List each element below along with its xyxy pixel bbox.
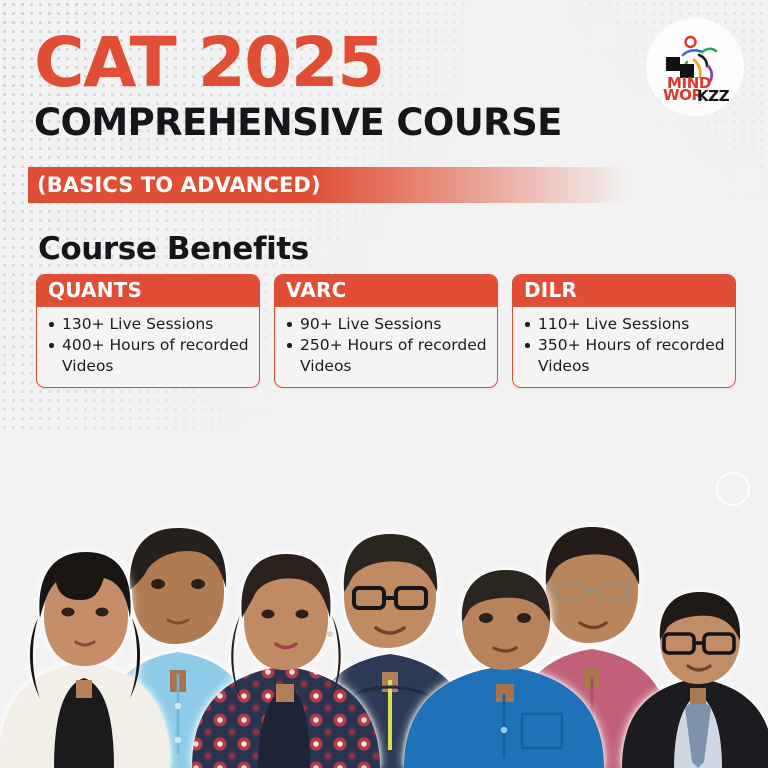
faculty-woman-printed-saree [184, 468, 394, 768]
page-title: CAT 2025 [34, 30, 562, 96]
benefit-cards: QUANTS 130+ Live Sessions 400+ Hours of … [36, 274, 736, 388]
benefit-card-body: 130+ Live Sessions 400+ Hours of recorde… [37, 307, 259, 387]
benefit-card-body: 90+ Live Sessions 250+ Hours of recorded… [275, 307, 497, 387]
benefit-card-title: QUANTS [48, 278, 142, 302]
headline-block: CAT 2025 COMPREHENSIVE COURSE [34, 30, 562, 141]
benefit-item: 90+ Live Sessions [285, 314, 487, 334]
benefit-item: 130+ Live Sessions [47, 314, 249, 334]
faculty-photo-band [0, 388, 768, 768]
benefit-card-varc: VARC 90+ Live Sessions 250+ Hours of rec… [274, 274, 498, 388]
benefit-card-header: DILR [513, 275, 735, 307]
benefit-item: 350+ Hours of recorded Videos [523, 335, 725, 376]
faculty-woman-white-blazer [0, 460, 182, 768]
benefit-card-header: VARC [275, 275, 497, 307]
level-ribbon-label: (BASICS TO ADVANCED) [37, 173, 321, 197]
page-subtitle: COMPREHENSIVE COURSE [34, 104, 562, 141]
benefit-item: 250+ Hours of recorded Videos [285, 335, 487, 376]
benefit-item: 400+ Hours of recorded Videos [47, 335, 249, 376]
faculty-man-blue-shirt [398, 478, 618, 768]
poster-root: MIND WOR KZZ CAT 2025 COMPREHENSIVE COUR… [0, 0, 768, 768]
benefit-card-body: 110+ Live Sessions 350+ Hours of recorde… [513, 307, 735, 387]
mindworkzz-logo: MIND WOR KZZ [646, 18, 744, 116]
benefit-item: 110+ Live Sessions [523, 314, 725, 334]
faculty-man-black-suit [616, 508, 768, 768]
course-benefits-heading: Course Benefits [38, 231, 309, 267]
benefit-card-title: DILR [524, 278, 577, 302]
benefit-card-header: QUANTS [37, 275, 259, 307]
svg-text:KZZ: KZZ [697, 87, 730, 105]
benefit-card-dilr: DILR 110+ Live Sessions 350+ Hours of re… [512, 274, 736, 388]
benefit-card-quants: QUANTS 130+ Live Sessions 400+ Hours of … [36, 274, 260, 388]
benefit-card-title: VARC [286, 278, 346, 302]
level-ribbon: (BASICS TO ADVANCED) [28, 167, 628, 203]
